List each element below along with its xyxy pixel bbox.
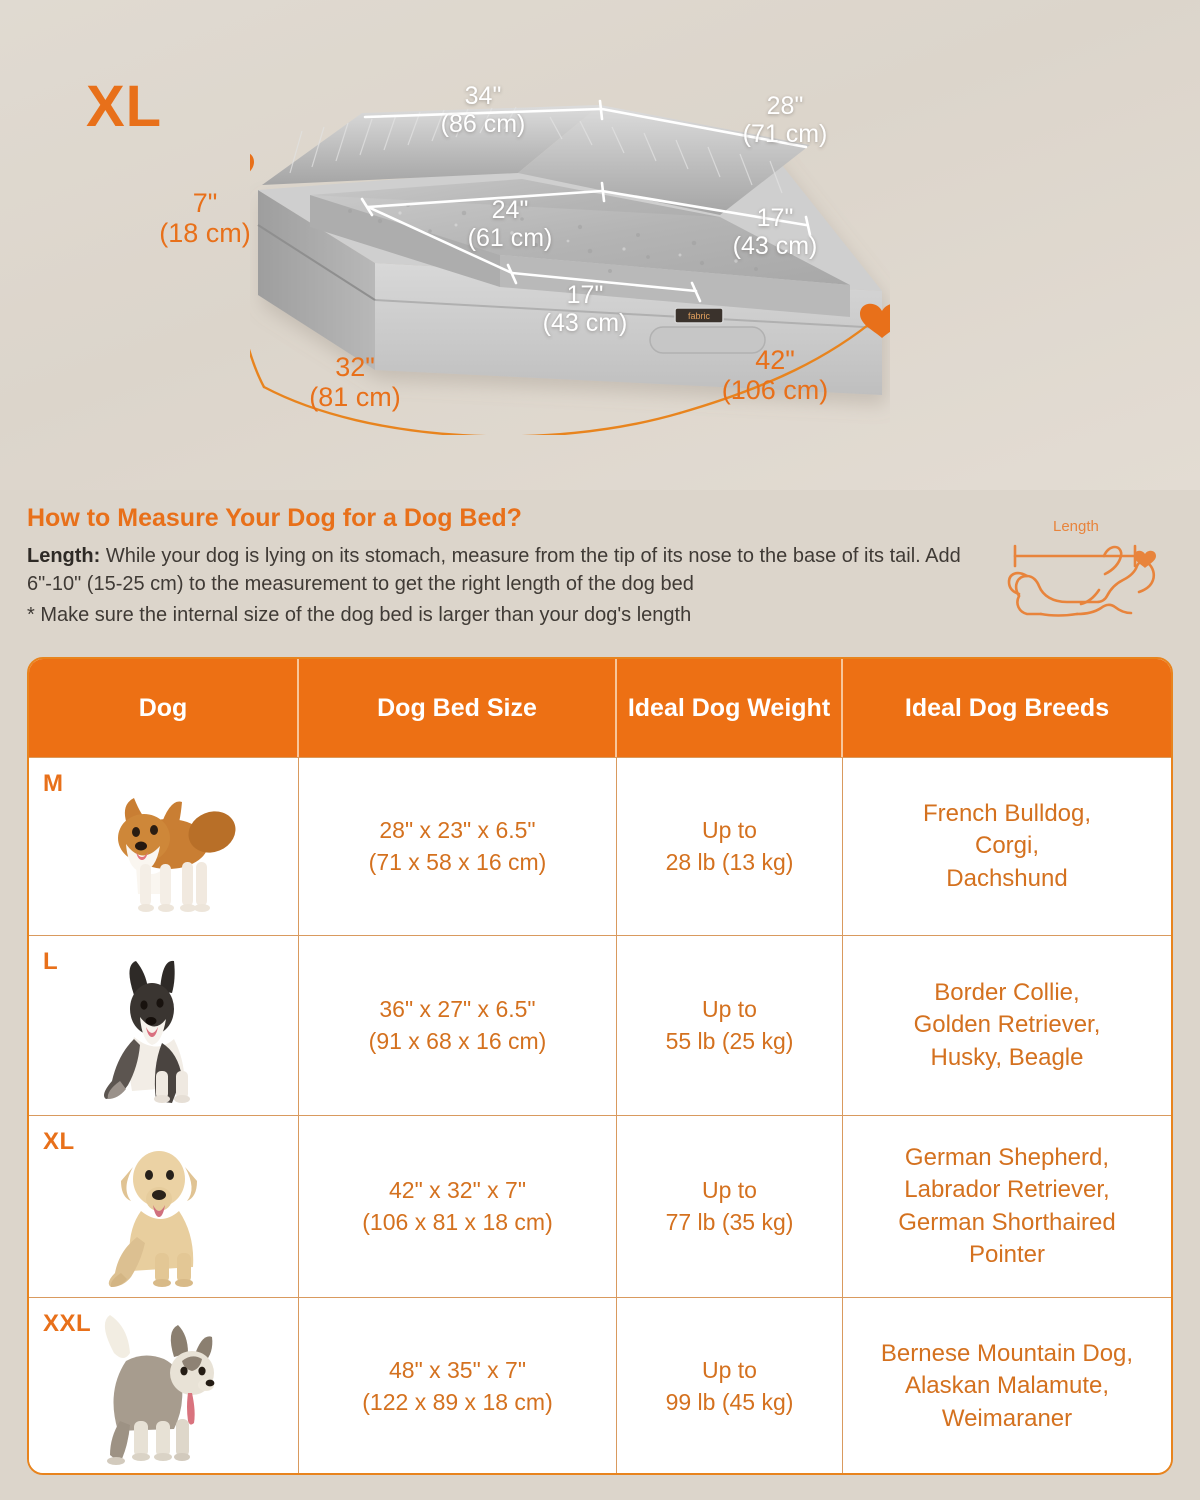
dim-inner-right: 17" (43 cm) bbox=[690, 204, 860, 260]
column-header-dog: Dog bbox=[29, 659, 299, 757]
table-row: XL 42" x 32" x 7" (106 x 81 x 18 cm) U bbox=[29, 1115, 1171, 1297]
cell-weight-xl: Up to 77 lb (35 kg) bbox=[617, 1116, 843, 1297]
cell-bed-size-m: 28" x 23" x 6.5" (71 x 58 x 16 cm) bbox=[299, 758, 617, 935]
svg-text:fabric: fabric bbox=[688, 311, 711, 321]
table-row: XXL 48 bbox=[29, 1297, 1171, 1475]
cell-bed-size-l: 36" x 27" x 6.5" (91 x 68 x 16 cm) bbox=[299, 936, 617, 1115]
cell-dog-m: M bbox=[29, 758, 299, 935]
table-row: L 36" x 27" x 6.5" (91 x 68 x 16 bbox=[29, 935, 1171, 1115]
dog-length-diagram-label: Length bbox=[1053, 518, 1099, 535]
dim-depth: 32" (81 cm) bbox=[275, 352, 435, 412]
cell-dog-l: L bbox=[29, 936, 299, 1115]
table-header-row: Dog Dog Bed Size Ideal Dog Weight Ideal … bbox=[29, 659, 1171, 757]
product-hero: XL bbox=[0, 0, 1200, 490]
dim-top-left: 34" (86 cm) bbox=[398, 82, 568, 138]
cell-breeds-xl: German Shepherd, Labrador Retriever, Ger… bbox=[843, 1116, 1171, 1297]
column-header-bed-size: Dog Bed Size bbox=[299, 659, 617, 757]
cell-breeds-m: French Bulldog, Corgi, Dachshund bbox=[843, 758, 1171, 935]
size-chart-table: Dog Dog Bed Size Ideal Dog Weight Ideal … bbox=[27, 657, 1173, 1475]
cell-dog-xl: XL bbox=[29, 1116, 299, 1297]
cell-bed-size-xxl: 48" x 35" x 7" (122 x 89 x 18 cm) bbox=[299, 1298, 617, 1475]
size-tag-m: M bbox=[43, 768, 64, 800]
heart-arrow-up-icon bbox=[250, 152, 254, 186]
column-header-dog-weight: Ideal Dog Weight bbox=[617, 659, 843, 757]
size-tag-l: L bbox=[43, 946, 58, 978]
cell-weight-xxl: Up to 99 lb (45 kg) bbox=[617, 1298, 843, 1475]
labrador-photo bbox=[59, 1127, 269, 1287]
dim-height: 7" (18 cm) bbox=[130, 188, 280, 248]
size-badge: XL bbox=[86, 78, 162, 136]
cell-weight-l: Up to 55 lb (25 kg) bbox=[617, 936, 843, 1115]
dim-inner-bottom: 17" (43 cm) bbox=[500, 281, 670, 337]
corgi-photo bbox=[64, 772, 264, 922]
length-text: While your dog is lying on its stomach, … bbox=[27, 545, 961, 595]
size-tag-xxl: XXL bbox=[43, 1308, 91, 1340]
cell-bed-size-xl: 42" x 32" x 7" (106 x 81 x 18 cm) bbox=[299, 1116, 617, 1297]
length-label: Length: bbox=[27, 545, 100, 567]
size-tag-xl: XL bbox=[43, 1126, 75, 1158]
measure-body: Length: While your dog is lying on its s… bbox=[27, 542, 977, 629]
cell-dog-xxl: XXL bbox=[29, 1298, 299, 1475]
dim-inner-left: 24" (61 cm) bbox=[425, 196, 595, 252]
cell-weight-m: Up to 28 lb (13 kg) bbox=[617, 758, 843, 935]
border-collie-photo bbox=[64, 947, 264, 1105]
dim-width: 42" (106 cm) bbox=[675, 345, 875, 405]
column-header-dog-breeds: Ideal Dog Breeds bbox=[843, 659, 1171, 757]
measure-title: How to Measure Your Dog for a Dog Bed? bbox=[27, 504, 522, 533]
dog-length-diagram: Length bbox=[995, 516, 1175, 638]
measure-note: * Make sure the internal size of the dog… bbox=[27, 601, 977, 629]
cell-breeds-l: Border Collie, Golden Retriever, Husky, … bbox=[843, 936, 1171, 1115]
cell-breeds-xxl: Bernese Mountain Dog, Alaskan Malamute, … bbox=[843, 1298, 1171, 1475]
dim-top-right: 28" (71 cm) bbox=[700, 92, 870, 148]
table-row: M 28" bbox=[29, 757, 1171, 935]
